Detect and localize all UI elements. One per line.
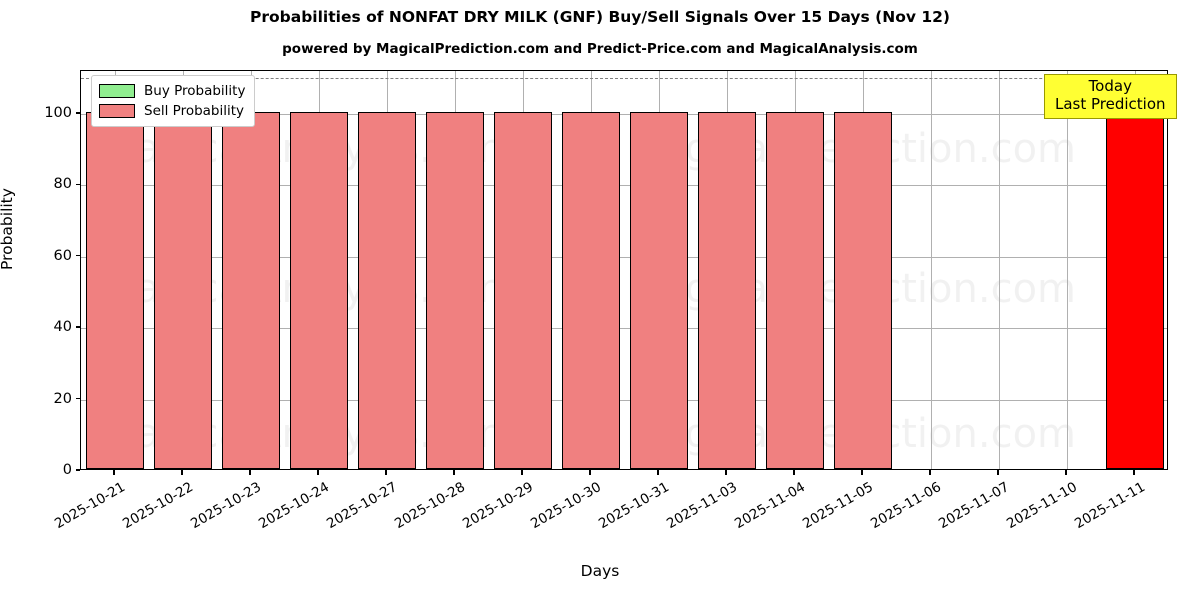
- legend-label-sell: Sell Probability: [144, 103, 244, 119]
- legend-swatch-sell: [99, 104, 135, 118]
- x-tick-mark: [725, 470, 726, 475]
- y-tick-mark: [76, 184, 81, 185]
- legend-item-sell: Sell Probability: [99, 101, 245, 121]
- gridline-vertical: [931, 71, 932, 469]
- bar-sell[interactable]: [834, 112, 892, 469]
- x-tick-mark: [861, 470, 862, 475]
- bar-sell[interactable]: [494, 112, 552, 469]
- today-annotation-line2: Last Prediction: [1055, 96, 1166, 114]
- gridline-vertical: [999, 71, 1000, 469]
- x-tick-mark: [1065, 470, 1066, 475]
- bar-sell[interactable]: [86, 112, 144, 469]
- bar-sell[interactable]: [766, 112, 824, 469]
- y-tick-mark: [76, 469, 81, 470]
- bar-sell[interactable]: [290, 112, 348, 469]
- chart-subtitle: powered by MagicalPrediction.com and Pre…: [0, 41, 1200, 57]
- bar-sell[interactable]: [630, 112, 688, 469]
- x-tick-mark: [997, 470, 998, 475]
- y-tick-label: 100: [10, 105, 72, 121]
- x-tick-mark: [453, 470, 454, 475]
- x-tick-mark: [317, 470, 318, 475]
- y-tick-label: 60: [10, 248, 72, 264]
- bar-sell[interactable]: [426, 112, 484, 469]
- x-tick-mark: [385, 470, 386, 475]
- x-tick-mark: [589, 470, 590, 475]
- plot-area: MagicalAnalysis.comMagicalPrediction.com…: [80, 70, 1168, 470]
- chart-legend: Buy Probability Sell Probability: [91, 75, 255, 127]
- y-tick-mark: [76, 326, 81, 327]
- x-tick-mark: [521, 470, 522, 475]
- legend-label-buy: Buy Probability: [144, 83, 245, 99]
- bar-sell[interactable]: [698, 112, 756, 469]
- bar-sell[interactable]: [154, 112, 212, 469]
- y-tick-label: 20: [10, 391, 72, 407]
- legend-swatch-buy: [99, 84, 135, 98]
- bar-sell[interactable]: [358, 112, 416, 469]
- y-tick-label: 0: [10, 462, 72, 478]
- x-tick-mark: [1133, 470, 1134, 475]
- x-tick-mark: [929, 470, 930, 475]
- bar-today-highlight[interactable]: [1106, 112, 1164, 469]
- bar-sell[interactable]: [222, 112, 280, 469]
- y-tick-label: 40: [10, 319, 72, 335]
- page-title: Probabilities of NONFAT DRY MILK (GNF) B…: [0, 8, 1200, 26]
- y-tick-label: 80: [10, 176, 72, 192]
- y-tick-mark: [76, 255, 81, 256]
- bar-sell[interactable]: [562, 112, 620, 469]
- x-tick-mark: [181, 470, 182, 475]
- y-tick-mark: [76, 112, 81, 113]
- x-tick-mark: [657, 470, 658, 475]
- legend-item-buy: Buy Probability: [99, 81, 245, 101]
- today-annotation: Today Last Prediction: [1044, 74, 1177, 119]
- today-annotation-line1: Today: [1055, 78, 1166, 96]
- x-tick-mark: [113, 470, 114, 475]
- chart-figure: Probabilities of NONFAT DRY MILK (GNF) B…: [0, 0, 1200, 600]
- x-tick-mark: [249, 470, 250, 475]
- y-tick-mark: [76, 398, 81, 399]
- gridline-vertical: [1067, 71, 1068, 469]
- x-tick-mark: [793, 470, 794, 475]
